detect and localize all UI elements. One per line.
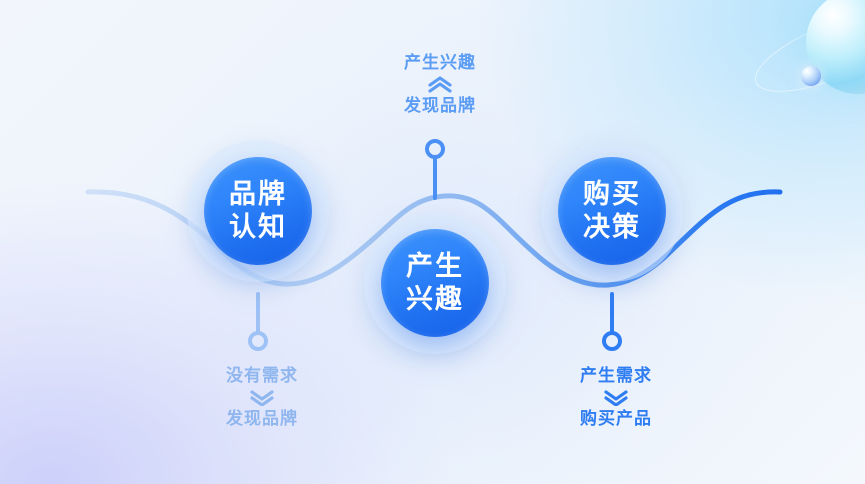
- stage-node-brand-awareness[interactable]: 品牌 认知: [187, 140, 329, 282]
- caption-top-text: 产生兴趣: [340, 52, 540, 73]
- caption-bottom-text: 购买产品: [516, 408, 716, 429]
- node-label-line1: 购买: [583, 178, 641, 211]
- node-halo: 品牌 认知: [187, 140, 329, 282]
- node-label-line2: 兴趣: [406, 283, 464, 316]
- node-label-line2: 认知: [229, 211, 287, 244]
- journey-infographic: 品牌 认知 产生 兴趣 购买 决策 产生兴趣 发现品牌: [0, 0, 865, 484]
- node-core: 购买 决策: [558, 157, 666, 265]
- chevron-down-icon: [601, 389, 631, 406]
- node-label-line2: 决策: [583, 211, 641, 244]
- caption-top-text: 产生需求: [516, 365, 716, 386]
- caption-interest-discover: 产生兴趣 发现品牌: [340, 52, 540, 117]
- chevron-up-icon: [425, 76, 455, 93]
- node-label-line1: 品牌: [229, 178, 287, 211]
- caption-demand-purchase: 产生需求 购买产品: [516, 365, 716, 430]
- caption-top-text: 没有需求: [162, 365, 362, 386]
- node-halo: 产生 兴趣: [364, 212, 506, 354]
- connector-bottom-left: [250, 294, 266, 349]
- caption-bottom-text: 发现品牌: [340, 95, 540, 116]
- connector-bottom-right: [604, 294, 620, 349]
- node-label-line1: 产生: [406, 250, 464, 283]
- node-core: 品牌 认知: [204, 157, 312, 265]
- chevron-down-icon: [247, 389, 277, 406]
- node-halo: 购买 决策: [541, 140, 683, 282]
- caption-no-demand-discover: 没有需求 发现品牌: [162, 365, 362, 430]
- stage-node-generate-interest[interactable]: 产生 兴趣: [364, 212, 506, 354]
- node-core: 产生 兴趣: [381, 229, 489, 337]
- stage-node-purchase-decision[interactable]: 购买 决策: [541, 140, 683, 282]
- caption-bottom-text: 发现品牌: [162, 408, 362, 429]
- connector-top-middle: [427, 141, 443, 198]
